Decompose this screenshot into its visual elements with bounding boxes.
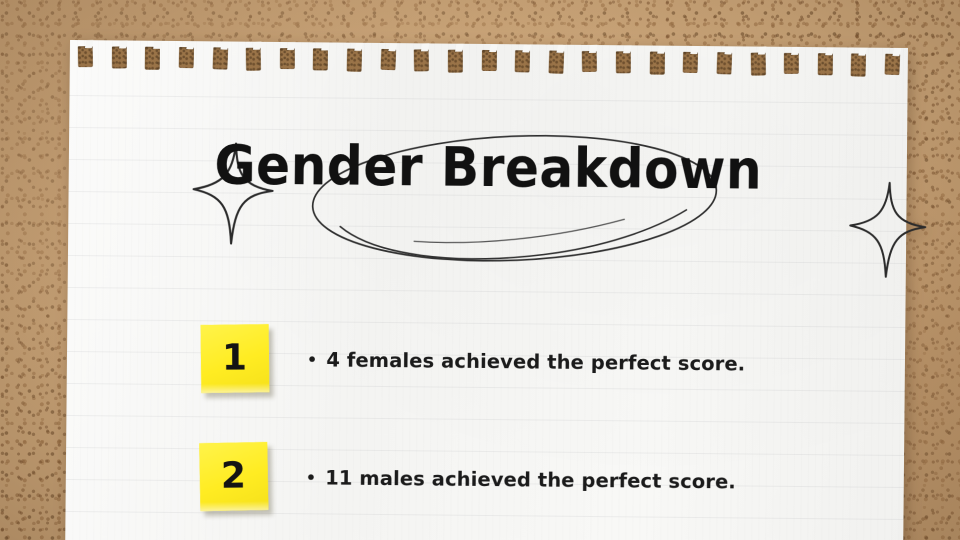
bullet-marker-icon: •	[307, 350, 318, 369]
sticky-note-number: 1	[222, 341, 247, 377]
sticky-note-1: 1	[201, 324, 270, 393]
list-item: 2 •11 males achieved the perfect score.	[200, 442, 821, 516]
notebook-page: Gender Breakdown 1 •4 females achieved t…	[65, 40, 908, 540]
sticky-note-2: 2	[199, 442, 268, 511]
sticky-note-number: 2	[221, 458, 246, 494]
bullet-text-2: 11 males achieved the perfect score.	[325, 466, 736, 493]
bullet-list: 1 •4 females achieved the perfect score.…	[65, 40, 908, 540]
bullet-marker-icon: •	[306, 468, 317, 487]
slide-canvas: Gender Breakdown 1 •4 females achieved t…	[0, 0, 960, 540]
bullet-text-1: 4 females achieved the perfect score.	[326, 348, 745, 375]
list-item: 1 •4 females achieved the perfect score.	[201, 324, 822, 398]
bullet-row-2: •11 males achieved the perfect score.	[306, 466, 736, 493]
bullet-row-1: •4 females achieved the perfect score.	[307, 348, 745, 375]
